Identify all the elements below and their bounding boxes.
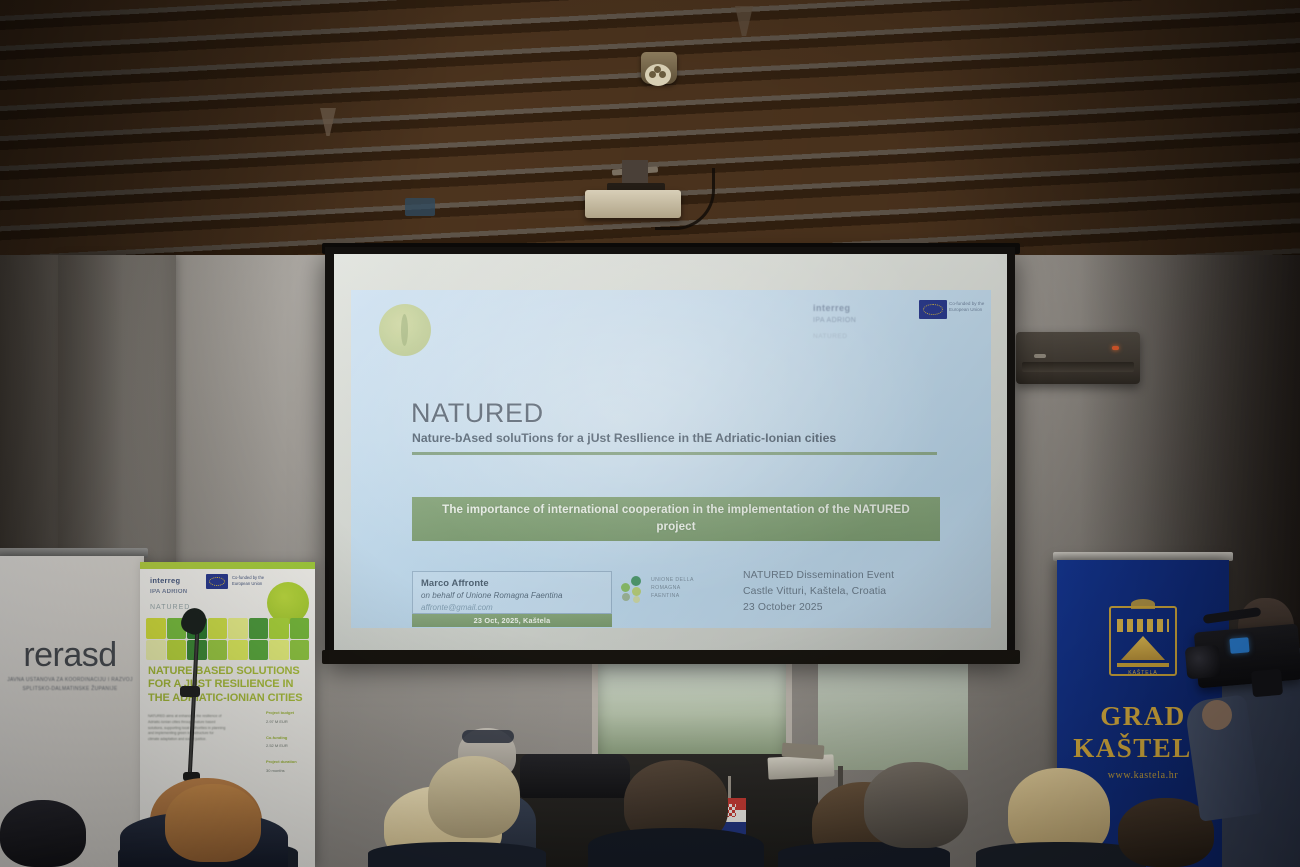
screen-surface: interreg IPA ADRION NATURED Co-funded by… bbox=[334, 254, 1007, 650]
eu-funding-text: Co-funded by the European Union bbox=[949, 301, 987, 313]
unione-romagna-faentina-logo: UNIONE DELLA ROMAGNA FAENTINA bbox=[619, 572, 705, 606]
stat1-label: Project budget bbox=[266, 710, 294, 715]
natured-banner-topbar bbox=[140, 562, 315, 569]
presentation-slide: interreg IPA ADRION NATURED Co-funded by… bbox=[351, 290, 991, 628]
event-details: NATURED Dissemination Event Castle Vittu… bbox=[743, 568, 894, 616]
logo-leaf bbox=[401, 314, 408, 346]
natured-icon-grid bbox=[146, 618, 309, 660]
screen-bottom-bar bbox=[322, 650, 1020, 664]
natured-banner-headline: NATURE BASED SOLUTIONS FOR A JUST RESILI… bbox=[148, 665, 314, 705]
event-venue: Castle Vitturi, Kaštela, Croatia bbox=[743, 584, 894, 600]
natured-interreg-programme: IPA ADRION bbox=[150, 589, 187, 595]
wall-junction-box bbox=[405, 198, 435, 216]
slide-subtitle: Nature-bAsed soluTions for a jUst ResIli… bbox=[412, 431, 836, 445]
microphone-clamp bbox=[180, 686, 200, 697]
papers-stack bbox=[767, 754, 834, 779]
ac-display bbox=[1034, 354, 1046, 358]
ac-vent bbox=[1022, 362, 1134, 372]
crest-label: KAŠTELA bbox=[1109, 670, 1177, 676]
camera-lcd-screen bbox=[1229, 637, 1249, 654]
urf-logo-text: UNIONE DELLA ROMAGNA FAENTINA bbox=[651, 577, 705, 600]
stat2-value: 2.52 M EUR bbox=[266, 743, 310, 750]
speaker-info-box: Marco Affronte on behalf of Unione Romag… bbox=[412, 571, 612, 614]
stat1-value: 2.97 M EUR bbox=[266, 719, 310, 726]
audience-shoulders-4 bbox=[368, 842, 546, 867]
natured-interreg-wordmark: interreg bbox=[150, 576, 180, 585]
audience-head-2 bbox=[165, 784, 261, 862]
interreg-project-sub: NATURED bbox=[813, 333, 973, 340]
crest-base bbox=[1117, 663, 1169, 667]
event-date: 23 October 2025 bbox=[743, 600, 894, 616]
audience-head-7 bbox=[864, 762, 968, 848]
natured-eu-text: Co-funded by the European Union bbox=[232, 575, 272, 587]
interreg-programme: IPA ADRION bbox=[813, 317, 973, 324]
natured-banner-body: NATURED aims at enhancing the resilience… bbox=[148, 714, 226, 743]
projection-screen: interreg IPA ADRION NATURED Co-funded by… bbox=[325, 247, 1015, 659]
rerasd-subtitle: JAVNA USTANOVA ZA KOORDINACIJU I RAZVOJ … bbox=[4, 676, 136, 693]
audience-shoulders-5 bbox=[588, 828, 764, 867]
event-name: NATURED Dissemination Event bbox=[743, 568, 894, 584]
sunglasses-icon bbox=[462, 730, 514, 743]
ac-power-led bbox=[1112, 346, 1119, 350]
audience-head-10 bbox=[0, 800, 86, 867]
stat3-value: 30 months bbox=[266, 768, 310, 775]
slide-title: NATURED bbox=[411, 398, 544, 429]
natured-circle-logo bbox=[379, 304, 431, 356]
slide-topic-text: The importance of international cooperat… bbox=[412, 502, 940, 536]
flag-pole bbox=[728, 776, 731, 798]
slide-divider-rule bbox=[412, 452, 937, 455]
papers-stack-2 bbox=[782, 743, 825, 760]
speaker-email: affronte@gmail.com bbox=[421, 603, 603, 612]
ceiling-projector-icon bbox=[585, 190, 681, 218]
conference-room-photo: interreg IPA ADRION NATURED Co-funded by… bbox=[0, 0, 1300, 867]
camera-grip bbox=[1251, 669, 1283, 698]
natured-project-mark: NATURED bbox=[150, 604, 190, 611]
eu-flag-icon-banner bbox=[206, 574, 228, 589]
spotlight-lens bbox=[645, 64, 671, 86]
speaker-date-text: 23 Oct, 2025, Kaštela bbox=[474, 616, 551, 625]
speaker-date-badge: 23 Oct, 2025, Kaštela bbox=[412, 614, 612, 627]
background-window-right bbox=[818, 650, 968, 770]
stat2-label: Co-funding bbox=[266, 735, 287, 740]
urf-dot-cluster bbox=[619, 576, 649, 604]
eu-stars-banner bbox=[209, 577, 225, 586]
speaker-name: Marco Affronte bbox=[421, 577, 603, 588]
camera-lens-icon bbox=[1185, 645, 1222, 680]
air-conditioner-icon bbox=[1016, 332, 1140, 384]
eu-flag-icon bbox=[919, 300, 947, 319]
crest-battlements bbox=[1117, 619, 1169, 632]
camera-operator-hand bbox=[1202, 700, 1232, 730]
speaker-affiliation: on behalf of Unione Romagna Faentina bbox=[421, 591, 603, 600]
eu-stars bbox=[923, 304, 943, 315]
stat3-label: Project duration bbox=[266, 759, 297, 764]
ceiling-shadow-overlay bbox=[0, 0, 1300, 262]
crest-crown bbox=[1131, 599, 1155, 609]
audience-head-4 bbox=[428, 756, 520, 838]
natured-banner-stats: Project budget 2.97 M EUR Co-funding 2.5… bbox=[266, 710, 310, 784]
rerasd-wordmark: rerasd bbox=[4, 636, 136, 675]
slide-topic-banner: The importance of international cooperat… bbox=[412, 497, 940, 541]
kastela-coat-of-arms-icon: KAŠTELA bbox=[1109, 606, 1177, 676]
ceiling-spotlight-icon bbox=[641, 52, 677, 84]
camera-bag bbox=[520, 754, 630, 798]
